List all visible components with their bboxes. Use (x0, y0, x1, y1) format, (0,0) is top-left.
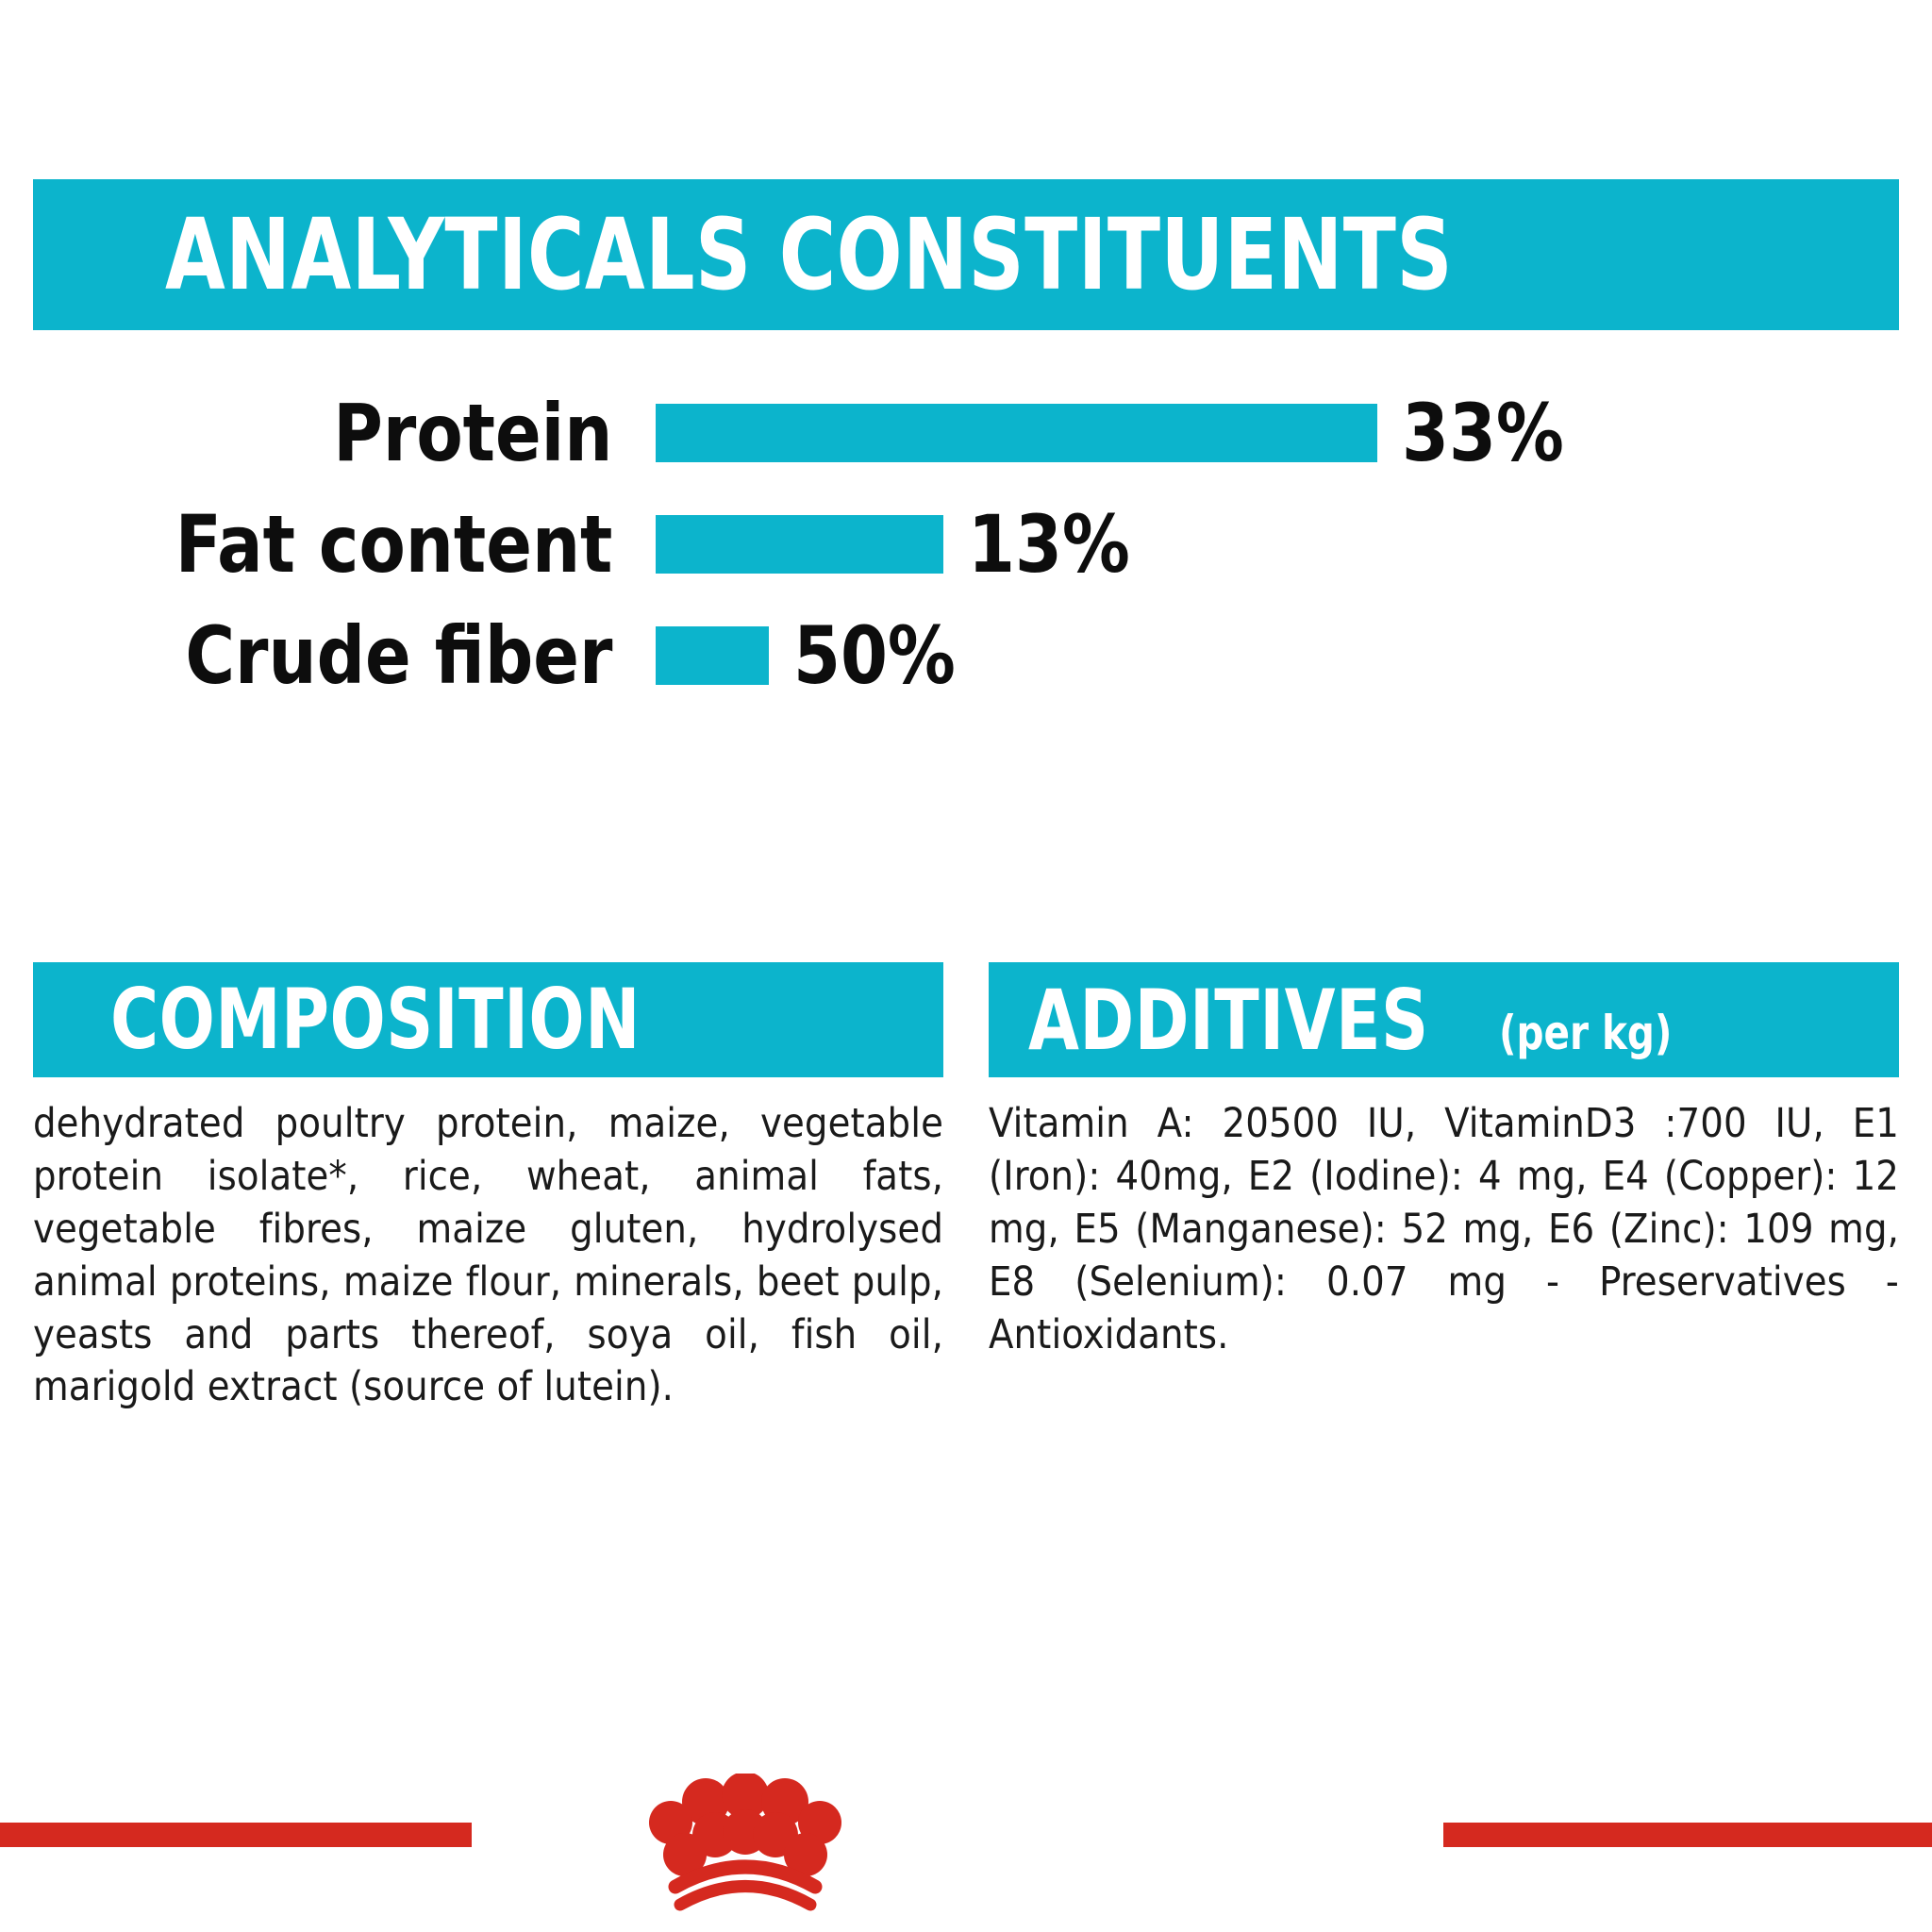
bar-fill-protein (656, 404, 1377, 462)
bar-label-fat-content: Fat content (64, 505, 656, 584)
bar-track-protein: 33% (656, 377, 1899, 489)
composition-text: dehydrated poultry protein, maize, veget… (33, 1077, 943, 1414)
bar-value-fat-content: 13% (968, 505, 1130, 584)
bar-fill-crude-fiber (656, 626, 769, 685)
royal-canin-crown-logo (547, 1774, 943, 1932)
bar-fill-fat-content (656, 515, 943, 574)
analyticals-constituents-heading: ANALYTICALS CONSTITUENTS (165, 206, 1453, 304)
additives-heading: ADDITIVES (1028, 979, 1429, 1062)
additives-banner: ADDITIVES (per kg) (989, 962, 1899, 1077)
footer-rule-right (1443, 1823, 1932, 1847)
analyticals-constituents-banner: ANALYTICALS CONSTITUENTS (33, 179, 1899, 330)
bar-row-crude-fiber: Crude fiber 50% (33, 600, 1899, 711)
bar-track-fat-content: 13% (656, 489, 1899, 600)
composition-additives-block: COMPOSITION dehydrated poultry protein, … (33, 962, 1899, 1414)
composition-banner: COMPOSITION (33, 962, 943, 1077)
additives-panel: ADDITIVES (per kg) Vitamin A: 20500 IU, … (989, 962, 1899, 1414)
bar-row-fat-content: Fat content 13% (33, 489, 1899, 600)
nutrition-panel-page: ANALYTICALS CONSTITUENTS Protein 33% Fat… (0, 0, 1932, 1932)
composition-heading: COMPOSITION (110, 978, 641, 1061)
bar-label-crude-fiber: Crude fiber (64, 616, 656, 695)
footer-rule-left (0, 1823, 472, 1847)
bar-value-crude-fiber: 50% (793, 616, 956, 695)
additives-subheading: (per kg) (1499, 1009, 1672, 1057)
footer (0, 1774, 1932, 1932)
additives-text: Vitamin A: 20500 IU, VitaminD3 :700 IU, … (989, 1077, 1899, 1361)
bar-value-protein: 33% (1402, 393, 1564, 473)
bar-row-protein: Protein 33% (33, 377, 1899, 489)
bar-track-crude-fiber: 50% (656, 600, 1899, 711)
composition-panel: COMPOSITION dehydrated poultry protein, … (33, 962, 943, 1414)
analyticals-bar-chart: Protein 33% Fat content 13% Crude fiber … (33, 377, 1899, 736)
bar-label-protein: Protein (64, 393, 656, 473)
